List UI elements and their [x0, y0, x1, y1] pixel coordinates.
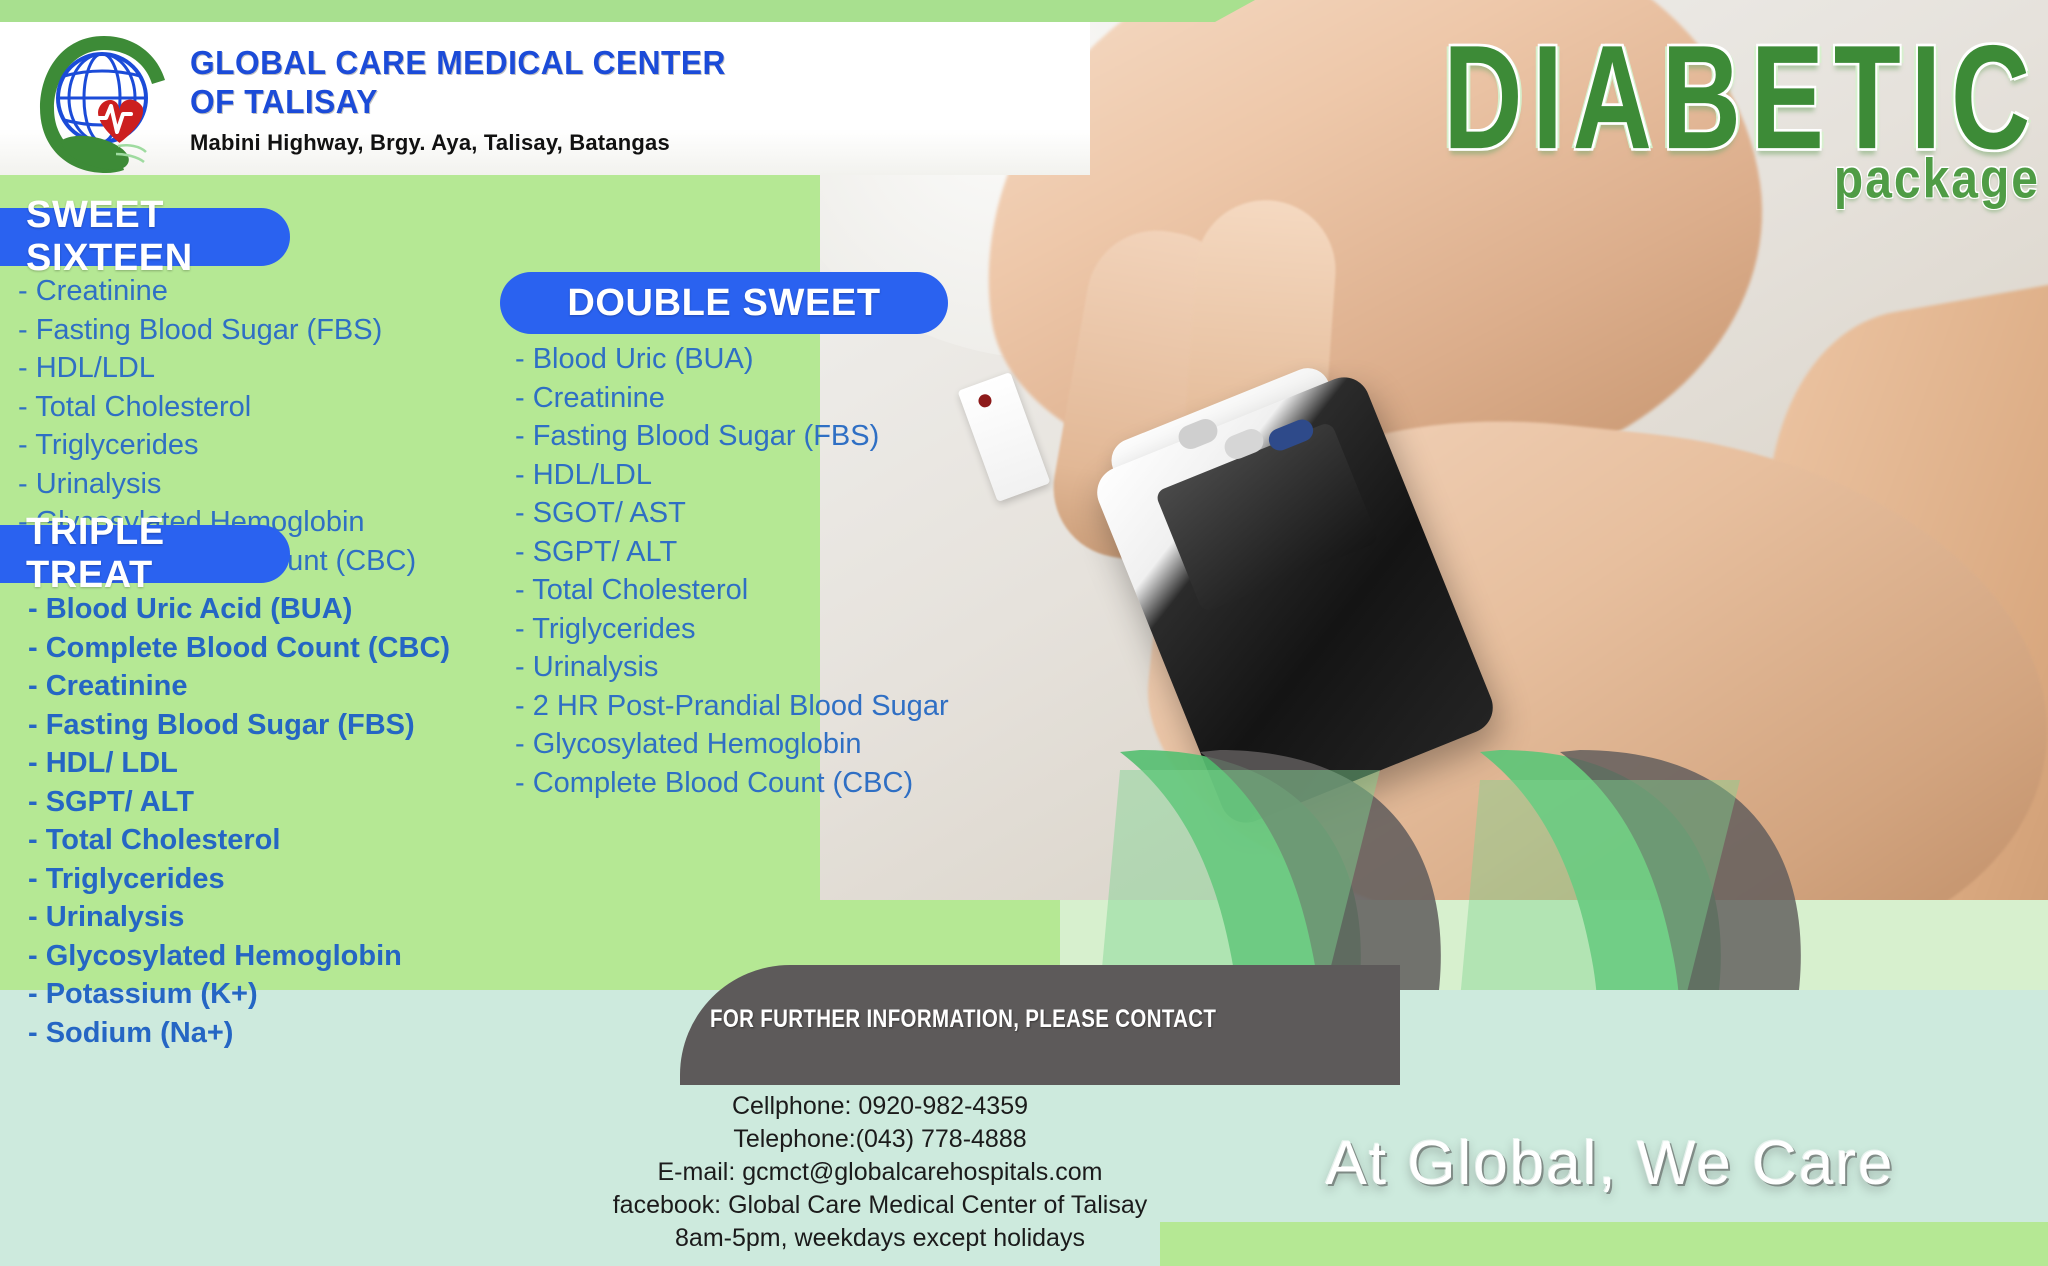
- package-header-triple-treat[interactable]: TRIPLE TREAT: [0, 525, 290, 583]
- brand-name-line1: GLOBAL CARE MEDICAL CENTER: [190, 44, 862, 83]
- list-item: - SGPT/ ALT: [28, 783, 450, 822]
- list-item: - SGOT/ AST: [515, 494, 949, 533]
- contact-cellphone: Cellphone: 0920-982-4359: [560, 1090, 1200, 1123]
- top-green-bar: [0, 0, 1215, 22]
- poster-root: GLOBAL CARE MEDICAL CENTER OF TALISAY Ma…: [0, 0, 2048, 1266]
- list-item: - Total Cholesterol: [515, 571, 949, 610]
- list-item: - Urinalysis: [18, 465, 416, 504]
- tagline: At Global, We Care: [1180, 1128, 2040, 1199]
- list-item: - Sodium (Na+): [28, 1014, 450, 1053]
- package-items-triple-treat: - Blood Uric Acid (BUA) - Complete Blood…: [28, 590, 450, 1052]
- list-item: - Triglycerides: [28, 860, 450, 899]
- page-subtitle: package: [1834, 148, 2040, 211]
- list-item: - Blood Uric Acid (BUA): [28, 590, 450, 629]
- package-items-double-sweet: - Blood Uric (BUA) - Creatinine - Fastin…: [515, 340, 949, 802]
- contact-hours: 8am-5pm, weekdays except holidays: [560, 1222, 1200, 1255]
- list-item: - HDL/LDL: [515, 456, 949, 495]
- list-item: - 2 HR Post-Prandial Blood Sugar: [515, 687, 949, 726]
- package-title-block: DIABETIC package: [1080, 24, 2040, 224]
- brand-block: GLOBAL CARE MEDICAL CENTER OF TALISAY Ma…: [190, 44, 890, 156]
- contact-heading-band: FOR FURTHER INFORMATION, PLEASE CONTACT: [680, 965, 1400, 1085]
- contact-facebook: facebook: Global Care Medical Center of …: [560, 1189, 1200, 1222]
- list-item: - Fasting Blood Sugar (FBS): [18, 311, 416, 350]
- bottom-green-strip: [1160, 1222, 2048, 1266]
- brand-address: Mabini Highway, Brgy. Aya, Talisay, Bata…: [190, 130, 890, 156]
- list-item: - Total Cholesterol: [28, 821, 450, 860]
- contact-email: E-mail: gcmct@globalcarehospitals.com: [560, 1156, 1200, 1189]
- list-item: - Total Cholesterol: [18, 388, 416, 427]
- brand-name-line2: OF TALISAY: [190, 83, 862, 122]
- list-item: - Blood Uric (BUA): [515, 340, 949, 379]
- list-item: - Complete Blood Count (CBC): [28, 629, 450, 668]
- list-item: - HDL/ LDL: [28, 744, 450, 783]
- contact-telephone: Telephone:(043) 778-4888: [560, 1123, 1200, 1156]
- list-item: - Urinalysis: [28, 898, 450, 937]
- list-item: - SGPT/ ALT: [515, 533, 949, 572]
- list-item: - Glycosylated Hemoglobin: [28, 937, 450, 976]
- contact-heading: FOR FURTHER INFORMATION, PLEASE CONTACT: [710, 1005, 1216, 1034]
- list-item: - Creatinine: [28, 667, 450, 706]
- list-item: - Creatinine: [515, 379, 949, 418]
- list-item: - Urinalysis: [515, 648, 949, 687]
- list-item: - Potassium (K+): [28, 975, 450, 1014]
- package-header-sweet-sixteen[interactable]: SWEET SIXTEEN: [0, 208, 290, 266]
- list-item: - Fasting Blood Sugar (FBS): [515, 417, 949, 456]
- list-item: - Triglycerides: [18, 426, 416, 465]
- list-item: - Complete Blood Count (CBC): [515, 764, 949, 803]
- list-item: - Creatinine: [18, 272, 416, 311]
- list-item: - Triglycerides: [515, 610, 949, 649]
- package-header-double-sweet[interactable]: DOUBLE SWEET: [500, 272, 948, 334]
- list-item: - Fasting Blood Sugar (FBS): [28, 706, 450, 745]
- globe-heart-hand-icon: [32, 28, 182, 178]
- contact-details: Cellphone: 0920-982-4359 Telephone:(043)…: [560, 1090, 1200, 1255]
- list-item: - Glycosylated Hemoglobin: [515, 725, 949, 764]
- list-item: - HDL/LDL: [18, 349, 416, 388]
